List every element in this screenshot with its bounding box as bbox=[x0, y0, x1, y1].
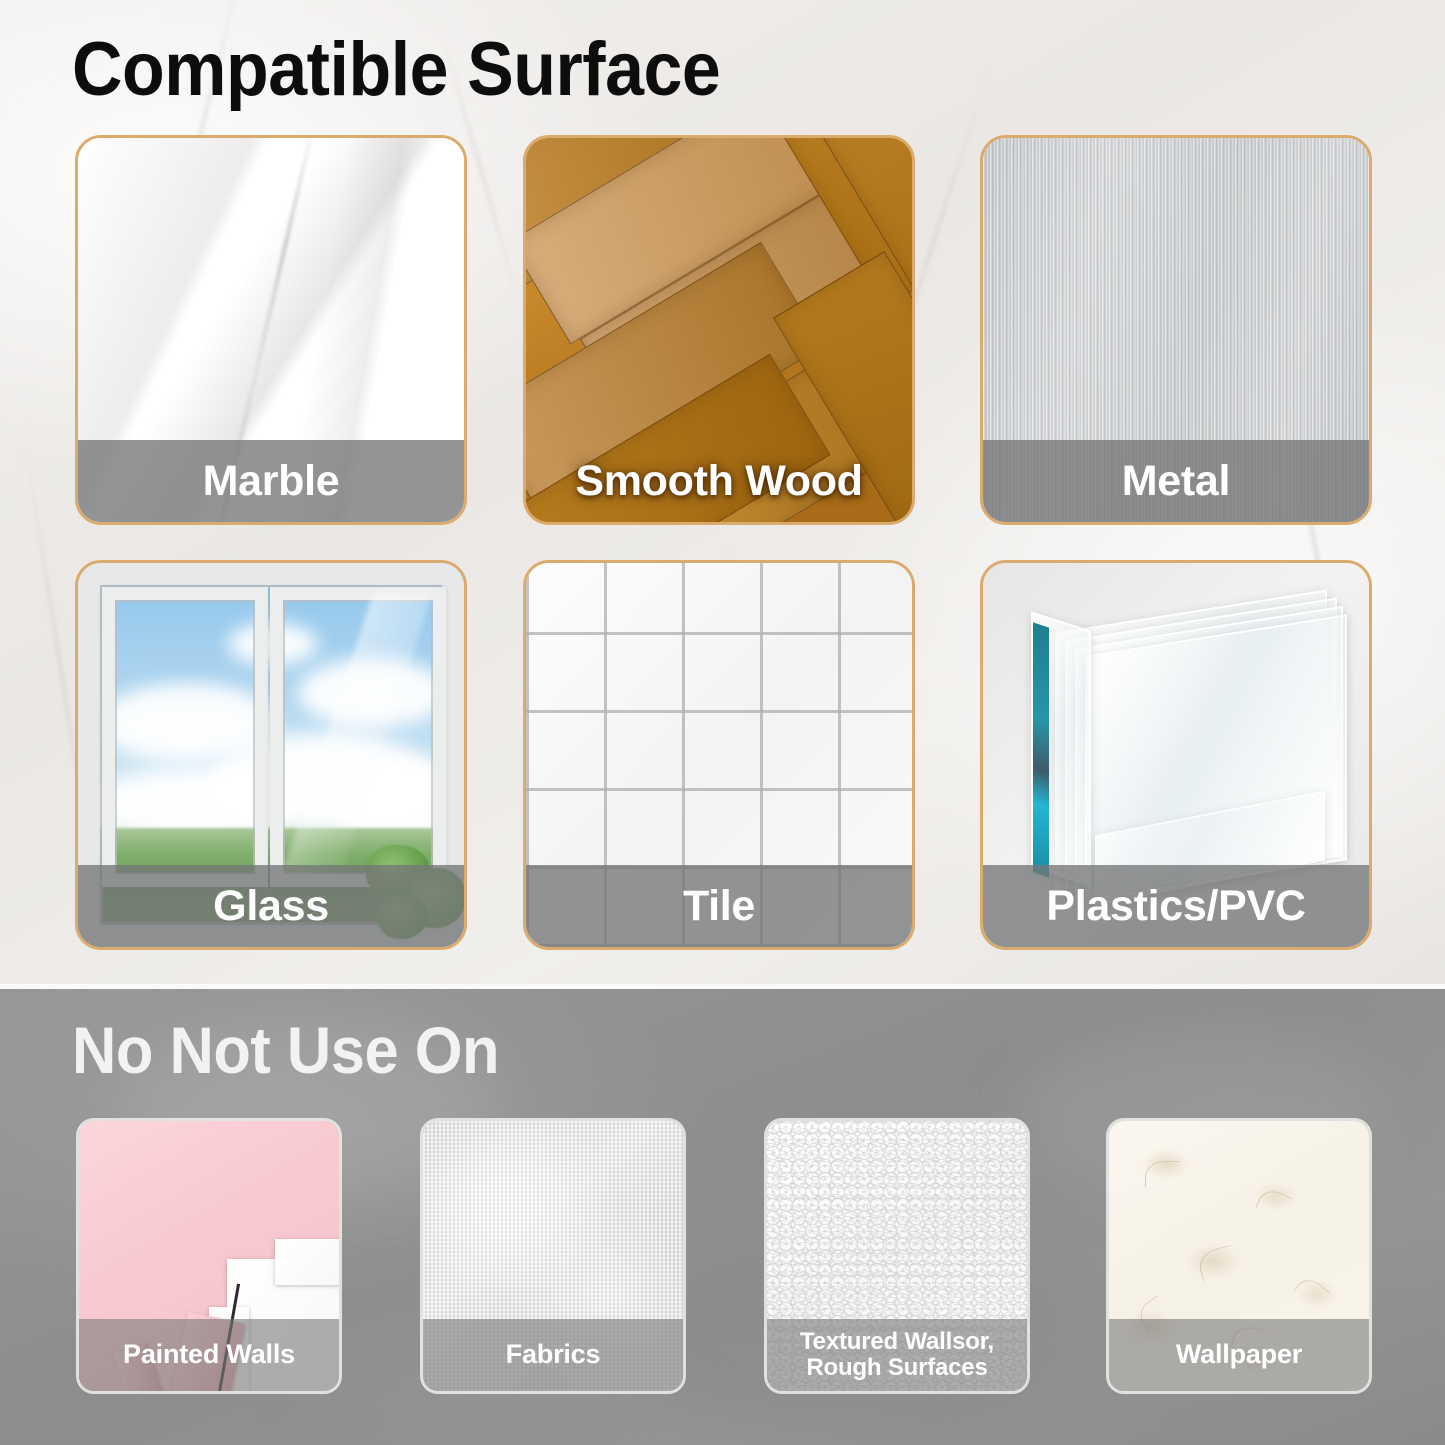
surface-card-label: Smooth Wood bbox=[526, 440, 912, 522]
compatible-surface-title: Compatible Surface bbox=[72, 26, 720, 113]
avoid-card-label-line2: Rough Surfaces bbox=[806, 1355, 987, 1381]
surface-card-label: Marble bbox=[78, 440, 464, 522]
surface-card-label: Glass bbox=[78, 865, 464, 947]
surface-card-marble: Marble bbox=[75, 135, 467, 525]
avoid-card-label: Wallpaper bbox=[1109, 1319, 1369, 1391]
avoid-card-wallpaper: Wallpaper bbox=[1106, 1118, 1372, 1394]
avoid-card-label: Painted Walls bbox=[79, 1319, 339, 1391]
avoid-card-label: Fabrics bbox=[423, 1319, 683, 1391]
surface-card-metal: Metal bbox=[980, 135, 1372, 525]
surface-card-plastics-pvc: Plastics/PVC bbox=[980, 560, 1372, 950]
do-not-use-title: No Not Use On bbox=[72, 1012, 499, 1088]
surface-card-glass: Glass bbox=[75, 560, 467, 950]
avoid-card-label: Textured Wallsor, Rough Surfaces bbox=[767, 1319, 1027, 1391]
surface-card-smooth-wood: Smooth Wood bbox=[523, 135, 915, 525]
infographic-page: Compatible Surface Marble Smooth Wood Me… bbox=[0, 0, 1445, 1445]
avoid-card-fabrics: Fabrics bbox=[420, 1118, 686, 1394]
surface-card-label: Plastics/PVC bbox=[983, 865, 1369, 947]
surface-card-label: Metal bbox=[983, 440, 1369, 522]
section-divider bbox=[0, 984, 1445, 989]
surface-card-label: Tile bbox=[526, 865, 912, 947]
avoid-card-painted-walls: Painted Walls bbox=[76, 1118, 342, 1394]
window-sash-left bbox=[102, 587, 268, 887]
avoid-card-label-line1: Textured Wallsor, bbox=[800, 1329, 994, 1355]
surface-card-tile: Tile bbox=[523, 560, 915, 950]
avoid-card-textured-walls: Textured Wallsor, Rough Surfaces bbox=[764, 1118, 1030, 1394]
